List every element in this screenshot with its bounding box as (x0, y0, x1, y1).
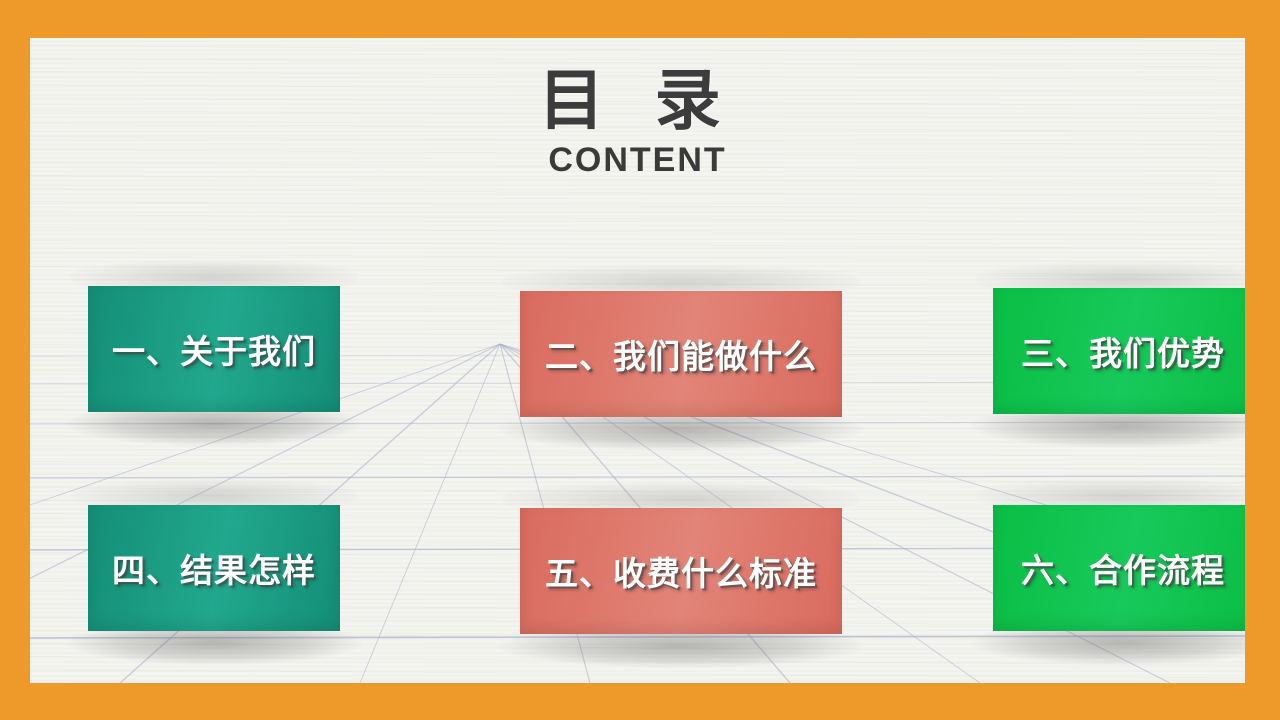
page-title: 目 录 (30, 66, 1245, 135)
section-box-1[interactable]: 一、关于我们 (88, 286, 340, 412)
section-box-label: 五、收费什么标准 (545, 547, 817, 595)
section-box-6[interactable]: 六、合作流程 (993, 505, 1245, 631)
floor-grid-horizontal (30, 636, 1245, 638)
section-box-2[interactable]: 二、我们能做什么 (520, 291, 842, 417)
slide-panel: 目 录 CONTENT 一、关于我们二、我们能做什么三、我们优势四、结果怎样五、… (30, 38, 1245, 683)
slide-canvas: 目 录 CONTENT 一、关于我们二、我们能做什么三、我们优势四、结果怎样五、… (0, 0, 1280, 720)
title-block: 目 录 CONTENT (30, 38, 1245, 180)
floor-grid-diagonal (360, 344, 500, 683)
section-box-label: 四、结果怎样 (112, 544, 316, 592)
section-box-label: 二、我们能做什么 (545, 330, 817, 378)
section-box-5[interactable]: 五、收费什么标准 (520, 508, 842, 634)
floor-grid-horizontal (30, 422, 1245, 424)
section-box-label: 一、关于我们 (112, 325, 316, 373)
section-box-label: 三、我们优势 (1021, 327, 1225, 375)
section-box-label: 六、合作流程 (1021, 544, 1225, 592)
section-box-4[interactable]: 四、结果怎样 (88, 505, 340, 631)
floor-grid-horizontal (30, 476, 1245, 478)
page-subtitle: CONTENT (30, 141, 1245, 180)
section-box-3[interactable]: 三、我们优势 (993, 288, 1245, 414)
